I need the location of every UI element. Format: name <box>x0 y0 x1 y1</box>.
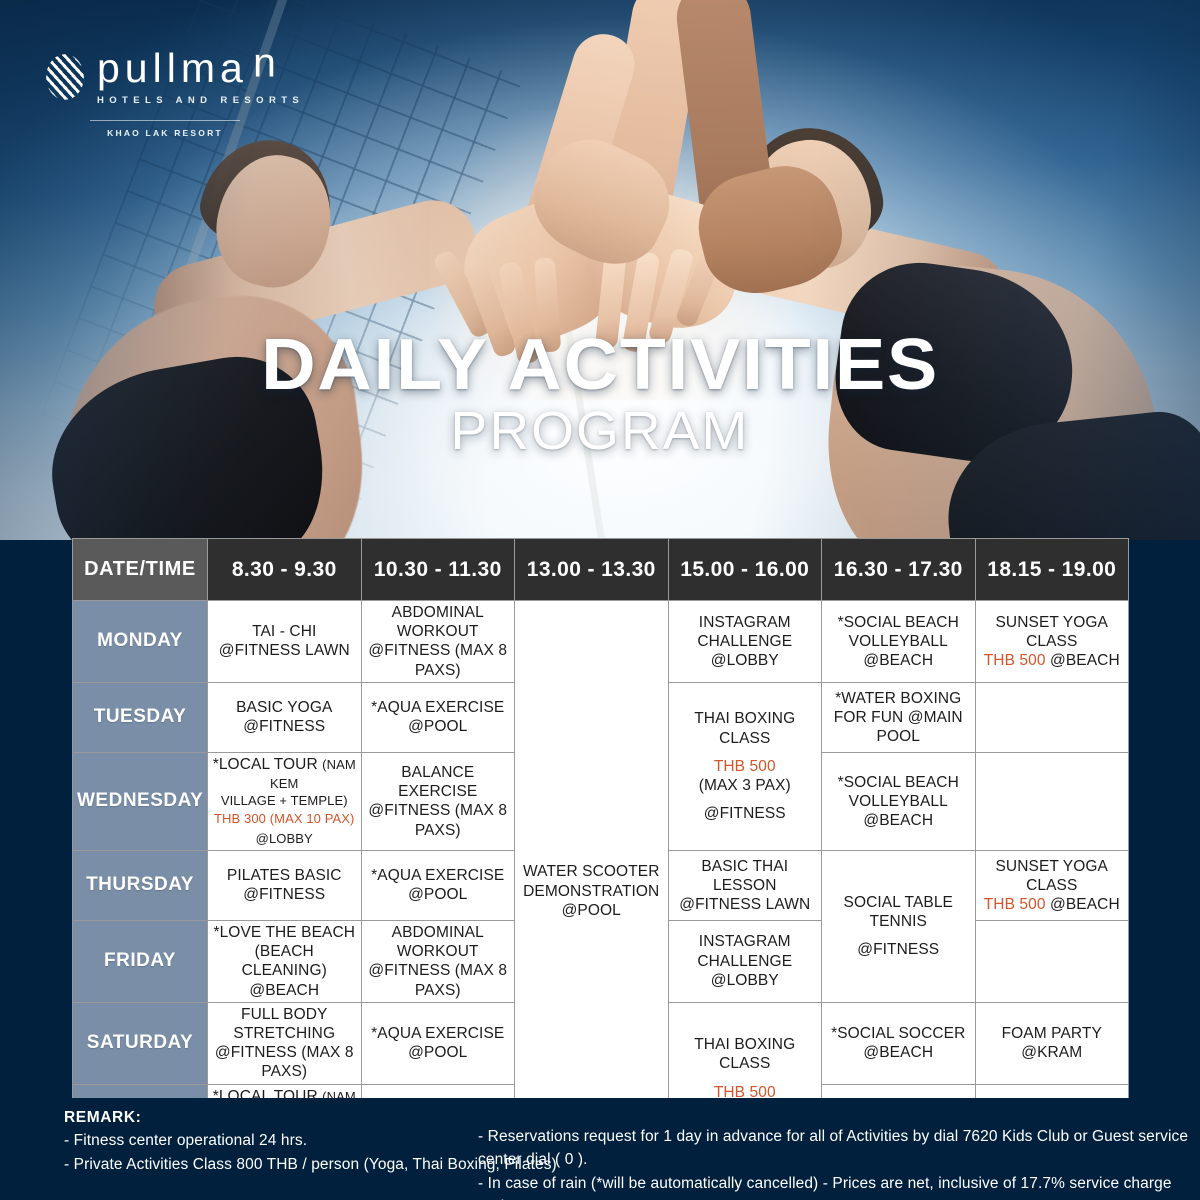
table-row: MONDAY TAI - CHI @FITNESS LAWN ABDOMINAL… <box>73 601 1129 683</box>
property-name: KHAO LAK RESORT <box>90 128 240 138</box>
brand-tagline: HOTELS AND RESORTS <box>97 95 304 106</box>
cell-saturday-1630: *SOCIAL SOCCER @BEACH <box>822 1002 976 1084</box>
cell-tuesday-1030: *AQUA EXERCISE @POOL <box>361 682 515 752</box>
cell-saturday-0830: FULL BODY STRETCHING @FITNESS (MAX 8 PAX… <box>208 1002 362 1084</box>
cell-thursday-1500: BASIC THAI LESSON @FITNESS LAWN <box>668 850 822 920</box>
header-slot-1: 8.30 - 9.30 <box>208 539 362 601</box>
pullman-striped-oval-icon <box>46 54 84 100</box>
cell-thursday-1815: SUNSET YOGA CLASS THB 500 @BEACH <box>975 850 1129 920</box>
header-date-time: DATE/TIME <box>73 539 208 601</box>
price-tag: THB 500 <box>984 652 1046 669</box>
header-slot-4: 15.00 - 16.00 <box>668 539 822 601</box>
price-tag: THB 300 (MAX 10 PAX) <box>214 811 354 826</box>
cell-thursday-0830: PILATES BASIC @FITNESS <box>208 850 362 920</box>
cell-saturday-1030: *AQUA EXERCISE @POOL <box>361 1002 515 1084</box>
cell-wednesday-1815 <box>975 752 1129 850</box>
cell-tuesday-0830: BASIC YOGA @FITNESS <box>208 682 362 752</box>
hero-banner: pullmau HOTELS AND RESORTS KHAO LAK RESO… <box>0 0 1200 540</box>
cell-friday-1815 <box>975 920 1129 1002</box>
table-header-row: DATE/TIME 8.30 - 9.30 10.30 - 11.30 13.0… <box>73 539 1129 601</box>
header-slot-3: 13.00 - 13.30 <box>515 539 669 601</box>
cell-tuesday-1630: *WATER BOXING FOR FUN @MAIN POOL <box>822 682 976 752</box>
cell-friday-1030: ABDOMINAL WORKOUT @FITNESS (MAX 8 PAXS) <box>361 920 515 1002</box>
day-label-tuesday: TUESDAY <box>73 682 208 752</box>
cell-water-scooter-all-week: WATER SCOOTER DEMONSTRATION @POOL <box>515 601 669 1183</box>
logo-divider <box>90 120 240 121</box>
cell-thursday-1030: *AQUA EXERCISE @POOL <box>361 850 515 920</box>
cell-monday-1500: INSTAGRAM CHALLENGE @LOBBY <box>668 601 822 683</box>
cell-monday-0830: TAI - CHI @FITNESS LAWN <box>208 601 362 683</box>
hero-title-block: DAILY ACTIVITIES PROGRAM <box>0 330 1200 459</box>
cell-friday-1500: INSTAGRAM CHALLENGE @LOBBY <box>668 920 822 1002</box>
page-subtitle: PROGRAM <box>0 403 1200 460</box>
price-tag: THB 500 <box>984 896 1046 913</box>
day-label-thursday: THURSDAY <box>73 850 208 920</box>
cell-saturday-1815: FOAM PARTY @KRAM <box>975 1002 1129 1084</box>
price-tag: THB 500 <box>673 757 818 776</box>
table-head: DATE/TIME 8.30 - 9.30 10.30 - 11.30 13.0… <box>73 539 1129 601</box>
cell-friday-0830: *LOVE THE BEACH (BEACH CLEANING) @BEACH <box>208 920 362 1002</box>
header-slot-2: 10.30 - 11.30 <box>361 539 515 601</box>
table-body: MONDAY TAI - CHI @FITNESS LAWN ABDOMINAL… <box>73 601 1129 1183</box>
remarks-section: REMARK: - Fitness center operational 24 … <box>0 1098 1200 1200</box>
cell-table-tennis-thu-fri: SOCIAL TABLE TENNIS @FITNESS <box>822 850 976 1002</box>
header-slot-6: 18.15 - 19.00 <box>975 539 1129 601</box>
day-label-monday: MONDAY <box>73 601 208 683</box>
cell-wednesday-0830: *LOCAL TOUR (NAM KEM VILLAGE + TEMPLE) T… <box>208 752 362 850</box>
cell-monday-1030: ABDOMINAL WORKOUT @FITNESS (MAX 8 PAXS) <box>361 601 515 683</box>
schedule-table-wrapper: DATE/TIME 8.30 - 9.30 10.30 - 11.30 13.0… <box>72 538 1128 1183</box>
remark-line-rain-policy: - In case of rain (*will be automaticall… <box>478 1172 1200 1200</box>
daily-activities-table: DATE/TIME 8.30 - 9.30 10.30 - 11.30 13.0… <box>72 538 1129 1183</box>
cell-monday-1815: SUNSET YOGA CLASS THB 500 @BEACH <box>975 601 1129 683</box>
brand-name: pullmau <box>97 48 304 89</box>
cell-thai-boxing-tue-wed: THAI BOXING CLASS THB 500 (MAX 3 PAX) @F… <box>668 682 822 850</box>
remarks-right-column: - Reservations request for 1 day in adva… <box>478 1125 1200 1200</box>
day-label-wednesday: WEDNESDAY <box>73 752 208 850</box>
cell-tuesday-1815 <box>975 682 1129 752</box>
cell-wednesday-1030: BALANCE EXERCISE @FITNESS (MAX 8 PAXS) <box>361 752 515 850</box>
day-label-saturday: SATURDAY <box>73 1002 208 1084</box>
brand-logo: pullmau HOTELS AND RESORTS KHAO LAK RESO… <box>46 48 304 138</box>
remark-line-reservations: - Reservations request for 1 day in adva… <box>478 1125 1200 1172</box>
header-slot-5: 16.30 - 17.30 <box>822 539 976 601</box>
cell-wednesday-1630: *SOCIAL BEACH VOLLEYBALL @BEACH <box>822 752 976 850</box>
cell-monday-1630: *SOCIAL BEACH VOLLEYBALL @BEACH <box>822 601 976 683</box>
logo-text-block: pullmau HOTELS AND RESORTS <box>97 48 304 106</box>
logo-row: pullmau HOTELS AND RESORTS <box>46 48 304 106</box>
page-title: DAILY ACTIVITIES <box>0 330 1200 401</box>
day-label-friday: FRIDAY <box>73 920 208 1002</box>
